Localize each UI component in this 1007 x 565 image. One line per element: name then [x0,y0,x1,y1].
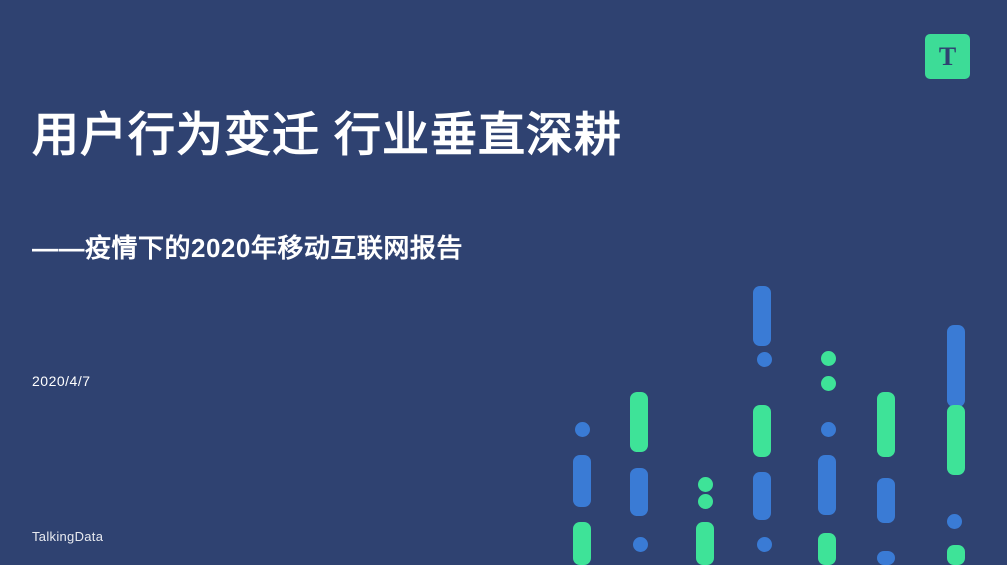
deco-bar [753,405,771,457]
deco-bar [947,325,965,407]
page-subtitle: ——疫情下的2020年移动互联网报告 [32,228,463,265]
deco-dot [757,537,772,552]
deco-dot [698,494,713,509]
deco-dot [575,422,590,437]
deco-dot [698,477,713,492]
decorative-bar-chart-graphic [0,0,1007,565]
deco-bar [947,405,965,475]
date-label: 2020/4/7 [32,373,91,389]
deco-bar [818,533,836,565]
deco-bar [753,472,771,520]
deco-bar [877,551,895,565]
deco-bar [630,392,648,452]
deco-bar [573,455,591,507]
deco-bar [753,286,771,346]
deco-bar [947,545,965,565]
deco-dot [821,351,836,366]
deco-dot [757,352,772,367]
deco-bar [573,522,591,565]
deco-bar [877,478,895,523]
deco-dot [633,537,648,552]
deco-bar [877,392,895,457]
deco-bar [818,455,836,515]
deco-dot [821,376,836,391]
deco-dot [947,514,962,529]
deco-bar [696,522,714,565]
deco-dot [821,422,836,437]
deco-bar [630,468,648,516]
logo-letter: T [925,34,970,79]
presentation-slide: T 用户行为变迁 行业垂直深耕 ——疫情下的2020年移动互联网报告 2020/… [0,0,1007,565]
brand-label: TalkingData [32,529,103,544]
talkingdata-logo-badge: T [925,34,970,79]
page-title: 用户行为变迁 行业垂直深耕 [32,96,622,165]
